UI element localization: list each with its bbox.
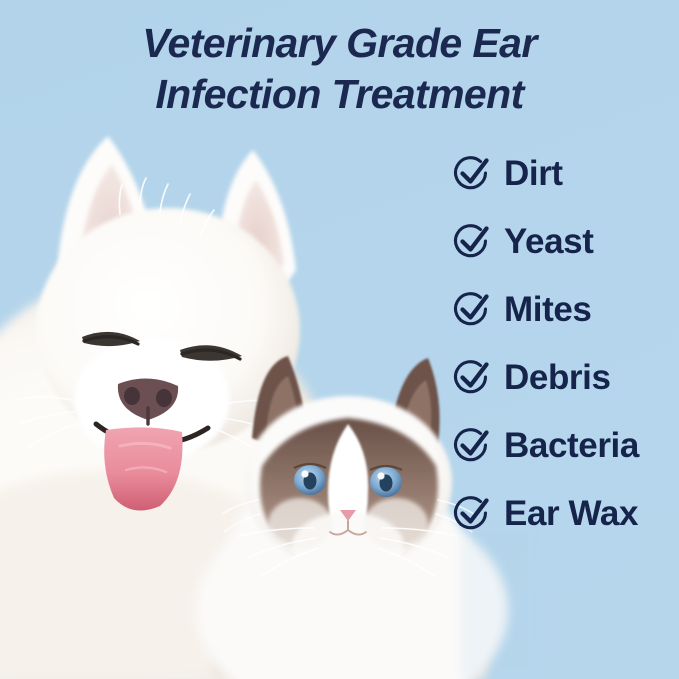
list-item: Mites: [450, 276, 679, 344]
check-circle-icon: [450, 288, 494, 332]
list-item: Dirt: [450, 140, 679, 208]
check-circle-icon: [450, 356, 494, 400]
benefits-checklist: Dirt Yeast Mites Debris: [450, 140, 679, 548]
list-item: Debris: [450, 344, 679, 412]
check-circle-icon: [450, 492, 494, 536]
list-item: Yeast: [450, 208, 679, 276]
check-circle-icon: [450, 220, 494, 264]
list-item: Ear Wax: [450, 480, 679, 548]
list-item-label: Bacteria: [504, 428, 639, 464]
list-item-label: Mites: [504, 292, 591, 328]
list-item: Bacteria: [450, 412, 679, 480]
list-item-label: Yeast: [504, 224, 593, 260]
check-circle-icon: [450, 424, 494, 468]
list-item-label: Dirt: [504, 156, 563, 192]
list-item-label: Ear Wax: [504, 496, 638, 532]
product-infographic-poster: Veterinary Grade Ear Infection Treatment…: [0, 0, 679, 679]
check-circle-icon: [450, 152, 494, 196]
list-item-label: Debris: [504, 360, 611, 396]
